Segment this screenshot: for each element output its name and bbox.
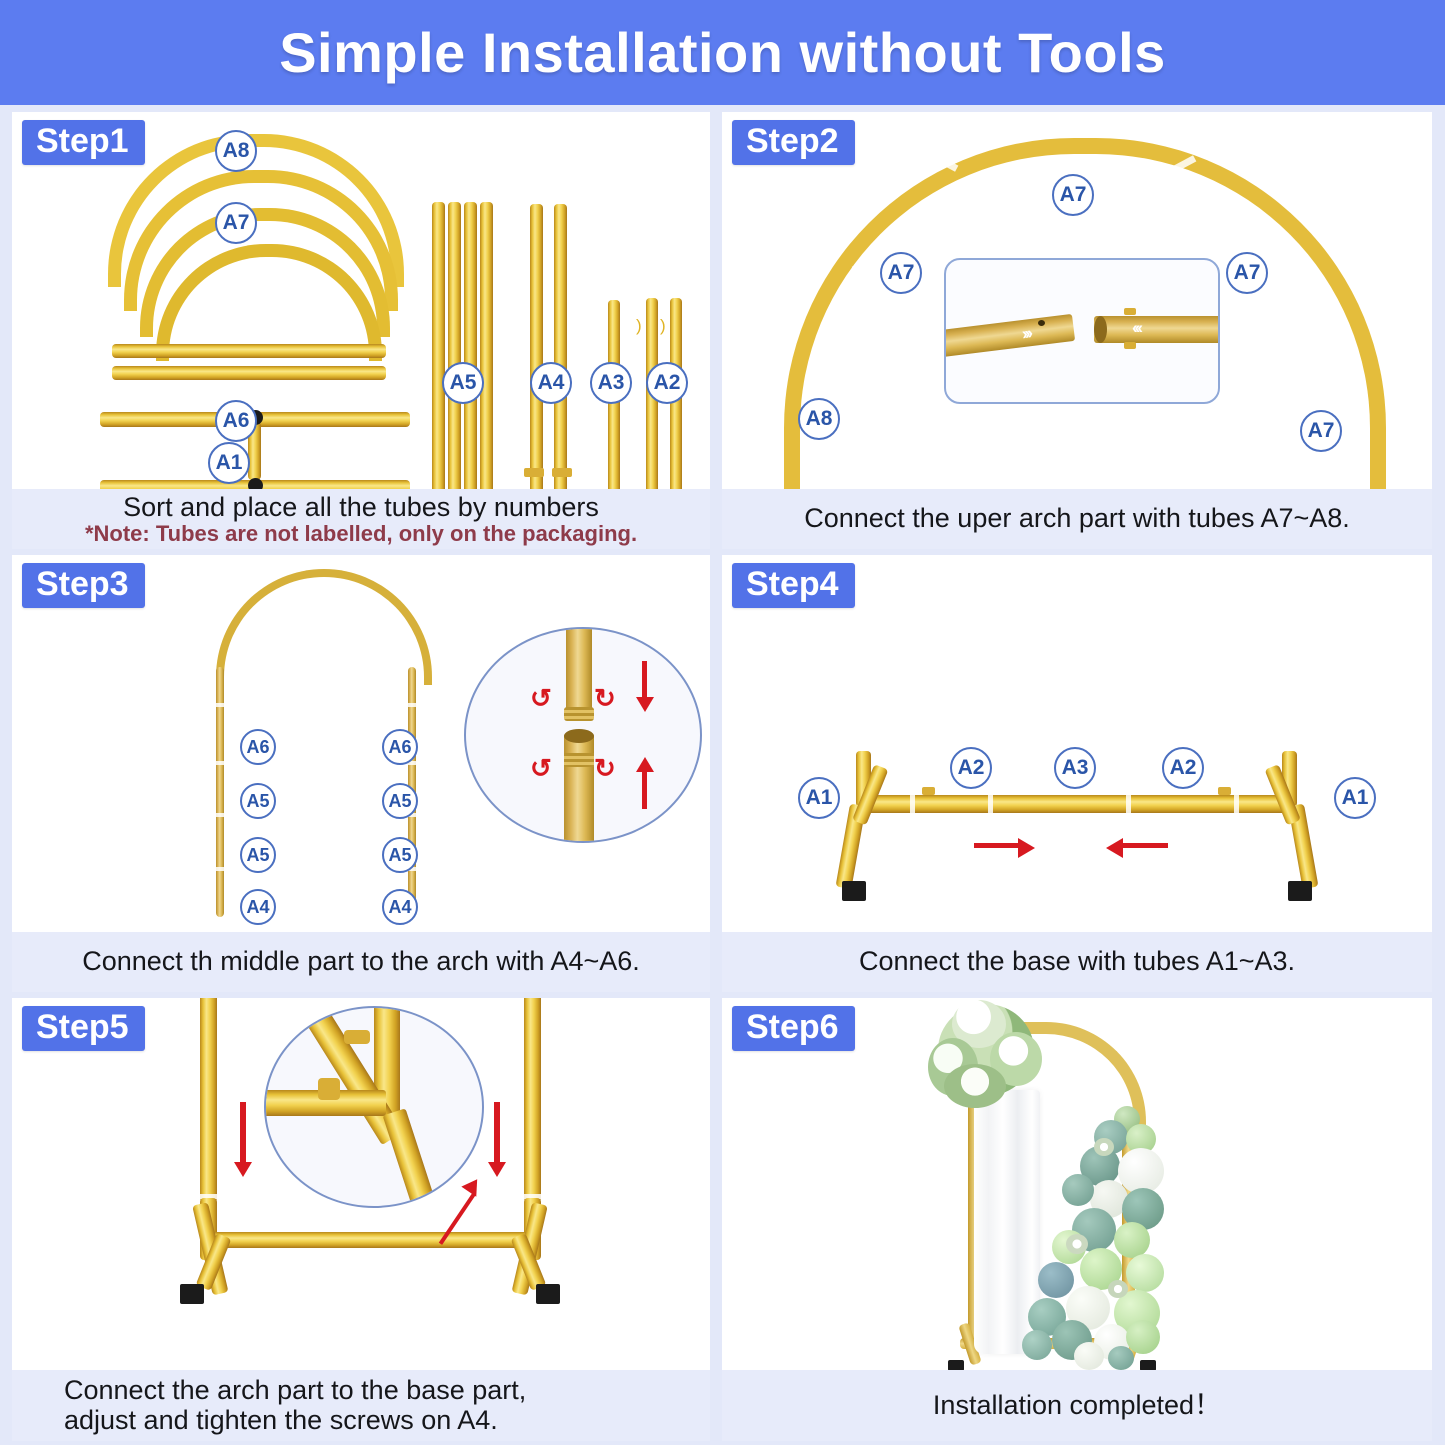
detail-tube-left-hole xyxy=(1038,320,1045,326)
seam-right-1 xyxy=(406,703,418,707)
final-left-foot-cap xyxy=(948,1360,964,1370)
step-panel-3: ↺ ↻ ↺ ↻ A6 A6 A5 A5 A5 A5 A4 A4 xyxy=(12,555,710,992)
balloon-7 xyxy=(1062,1174,1094,1206)
step-panel-1: ) ) A8 A7 A6 A5 A4 A3 A2 A1 Step1 Sort a… xyxy=(12,112,710,549)
balloon-20 xyxy=(1126,1320,1160,1354)
step-panel-4: A1 A2 A3 A2 A1 Step4 Connect the base wi… xyxy=(722,555,1432,992)
twist-threads-upper xyxy=(564,707,594,721)
a4-screw-left xyxy=(524,468,544,477)
tag-a1-right: A1 xyxy=(1334,777,1376,819)
rail-screw-left xyxy=(922,787,935,795)
final-right-foot-cap xyxy=(1140,1360,1156,1370)
step5-caption-line2: adjust and tighten the screws on A4. xyxy=(64,1406,498,1435)
straight-tube-a4-2 xyxy=(554,204,567,489)
tag-a8: A8 xyxy=(215,130,257,172)
balloon-22 xyxy=(1074,1342,1104,1370)
balloon-14 xyxy=(1038,1262,1074,1298)
straight-tube-a6-bottom xyxy=(112,366,386,380)
balloon-sprig-3 xyxy=(1108,1280,1128,1298)
tag-a6-left: A6 xyxy=(240,729,276,765)
tag-a1: A1 xyxy=(208,442,250,484)
tag-a7-right-leg: A7 xyxy=(1300,410,1342,452)
step3-caption-block: Connect th middle part to the arch with … xyxy=(12,932,710,992)
detail-chevrons-right-icon: ‹‹‹ xyxy=(1132,318,1140,338)
straight-tube-a5-4 xyxy=(480,202,493,489)
step-badge-5: Step5 xyxy=(22,1006,145,1051)
straight-tube-a6-top xyxy=(112,344,386,358)
joint-lower-tube xyxy=(383,1108,439,1208)
tag-a6: A6 xyxy=(215,400,257,442)
tag-a1-left: A1 xyxy=(798,777,840,819)
step5-left-down-arrow-head-icon xyxy=(234,1162,252,1177)
tag-a7-top: A7 xyxy=(1052,174,1094,216)
straight-tube-a5-3 xyxy=(464,202,477,489)
step2-connection-detail-inset: ››› ‹‹‹ xyxy=(944,258,1220,404)
tag-a2-right: A2 xyxy=(1162,747,1204,789)
step1-illustration: ) ) A8 A7 A6 A5 A4 A3 A2 A1 xyxy=(12,112,710,489)
twist-threads-lower xyxy=(564,753,594,767)
step-badge-4: Step4 xyxy=(732,563,855,608)
page-title: Simple Installation without Tools xyxy=(279,20,1166,85)
tag-a4-left: A4 xyxy=(240,889,276,925)
base-cap-bottom xyxy=(248,478,263,489)
balloon-23 xyxy=(1108,1346,1134,1370)
step4-caption: Connect the base with tubes A1~A3. xyxy=(859,947,1295,976)
rail-seam-4 xyxy=(1234,794,1239,814)
step5-base-rail xyxy=(210,1232,532,1248)
balloon-sprig-2 xyxy=(1066,1234,1088,1254)
step3-twist-detail-inset: ↺ ↻ ↺ ↻ xyxy=(464,627,702,843)
step5-right-foot-cap xyxy=(536,1284,560,1304)
tag-a2-left: A2 xyxy=(950,747,992,789)
push-right-arrow-shaft xyxy=(974,843,1020,848)
page-header: Simple Installation without Tools xyxy=(0,0,1445,105)
tag-a5: A5 xyxy=(442,362,484,404)
tag-a5-left-1: A5 xyxy=(240,783,276,819)
tag-a2: A2 xyxy=(646,362,688,404)
twist-tube-lower xyxy=(564,733,594,843)
step-badge-6: Step6 xyxy=(732,1006,855,1051)
tag-a6-right: A6 xyxy=(382,729,418,765)
step-badge-1: Step1 xyxy=(22,120,145,165)
installation-instruction-sheet: Simple Installation without Tools xyxy=(0,0,1445,1445)
step-badge-2: Step2 xyxy=(732,120,855,165)
down-arrow-head-icon xyxy=(636,697,654,712)
push-right-arrow-head-icon xyxy=(1018,838,1035,858)
step5-left-down-arrow-shaft xyxy=(240,1102,246,1164)
right-foot-cap xyxy=(1288,881,1312,901)
rotate-arrow-lower-left-icon: ↺ xyxy=(530,753,552,784)
step4-illustration: A1 A2 A3 A2 A1 xyxy=(722,555,1432,932)
joint-screw-lower xyxy=(318,1078,340,1100)
a2-notch-left-icon: ) xyxy=(636,316,642,336)
rotate-arrow-upper-left-icon: ↺ xyxy=(530,683,552,714)
push-left-arrow-head-icon xyxy=(1106,838,1123,858)
detail-tube-right xyxy=(1094,316,1220,343)
twist-tube-lower-opening xyxy=(564,729,594,743)
balloon-10 xyxy=(1114,1222,1150,1258)
seam-left-4 xyxy=(214,867,226,871)
push-left-arrow-shaft xyxy=(1122,843,1168,848)
step5-right-upright xyxy=(524,998,541,1202)
straight-tube-a5-2 xyxy=(448,202,461,489)
floral-bottom-fill xyxy=(944,1064,1006,1108)
step5-joint-detail-inset xyxy=(264,1006,484,1208)
step6-caption-block: Installation completed！ xyxy=(722,1370,1432,1441)
balloon-sprig-1 xyxy=(1094,1138,1114,1156)
step5-caption-line1: Connect the arch part to the base part, xyxy=(64,1376,526,1405)
step1-note: *Note: Tubes are not labelled, only on t… xyxy=(85,522,637,546)
up-arrow-shaft xyxy=(642,771,647,809)
tag-a7: A7 xyxy=(215,202,257,244)
rail-seam-1 xyxy=(910,794,915,814)
step1-caption-block: Sort and place all the tubes by numbers … xyxy=(12,489,710,549)
detail-screw-bottom xyxy=(1124,342,1136,349)
tag-a4-right: A4 xyxy=(382,889,418,925)
step-panel-6: Step6 Installation completed！ xyxy=(722,998,1432,1441)
tag-a4: A4 xyxy=(530,362,572,404)
step6-caption: Installation completed！ xyxy=(933,1391,1221,1420)
step5-right-down-arrow-head-icon xyxy=(488,1162,506,1177)
a2-notch-right-icon: ) xyxy=(660,316,666,336)
joint-screw-upper xyxy=(344,1030,370,1044)
straight-tube-a5-1 xyxy=(432,202,445,489)
step-badge-3: Step3 xyxy=(22,563,145,608)
seam-left-2 xyxy=(214,761,226,765)
up-arrow-head-icon xyxy=(636,757,654,772)
balloon-13 xyxy=(1126,1254,1164,1292)
tag-a5-left-2: A5 xyxy=(240,837,276,873)
seam-left-1 xyxy=(214,703,226,707)
step6-illustration xyxy=(722,998,1432,1370)
rail-seam-2 xyxy=(988,794,993,814)
rail-screw-right xyxy=(1218,787,1231,795)
tag-a3: A3 xyxy=(590,362,632,404)
steps-grid: ) ) A8 A7 A6 A5 A4 A3 A2 A1 Step1 Sort a… xyxy=(0,108,1445,1445)
step-panel-2: ››› ‹‹‹ A7 A7 A7 A8 A7 Step2 Connect the… xyxy=(722,112,1432,549)
seam-left-3 xyxy=(214,813,226,817)
step2-illustration: ››› ‹‹‹ A7 A7 A7 A8 A7 xyxy=(722,112,1432,489)
step3-caption: Connect th middle part to the arch with … xyxy=(82,947,640,976)
detail-tube-left xyxy=(944,314,1075,357)
down-arrow-shaft xyxy=(642,661,647,699)
detail-tube-right-opening xyxy=(1094,316,1107,343)
step2-caption: Connect the uper arch part with tubes A7… xyxy=(804,504,1350,533)
step1-caption: Sort and place all the tubes by numbers xyxy=(123,493,599,522)
step3-illustration: ↺ ↻ ↺ ↻ A6 A6 A5 A5 A5 A5 A4 A4 xyxy=(12,555,710,932)
tag-a7-left: A7 xyxy=(880,252,922,294)
tag-a7-right: A7 xyxy=(1226,252,1268,294)
tag-a5-right-1: A5 xyxy=(382,783,418,819)
rotate-arrow-upper-right-icon: ↻ xyxy=(594,683,616,714)
left-foot-cap xyxy=(842,881,866,901)
rail-seam-3 xyxy=(1126,794,1131,814)
step-panel-5: Step5 Connect the arch part to the base … xyxy=(12,998,710,1441)
balloon-21 xyxy=(1022,1330,1052,1360)
step5-left-upright xyxy=(200,998,217,1202)
tag-a3: A3 xyxy=(1054,747,1096,789)
tag-a8-left-leg: A8 xyxy=(798,398,840,440)
step5-left-foot-cap xyxy=(180,1284,204,1304)
step5-caption-block: Connect the arch part to the base part, … xyxy=(12,1370,710,1441)
tag-a5-right-2: A5 xyxy=(382,837,418,873)
step5-illustration xyxy=(12,998,710,1370)
step4-caption-block: Connect the base with tubes A1~A3. xyxy=(722,932,1432,992)
step2-caption-block: Connect the uper arch part with tubes A7… xyxy=(722,489,1432,549)
step5-pointer-arrow-head-icon xyxy=(461,1174,484,1197)
detail-screw-top xyxy=(1124,308,1136,315)
straight-tube-a4-1 xyxy=(530,204,543,489)
step3-arch-top xyxy=(216,569,432,685)
step5-right-down-arrow-shaft xyxy=(494,1102,500,1164)
base-rail xyxy=(862,795,1290,813)
rotate-arrow-lower-right-icon: ↻ xyxy=(594,753,616,784)
a4-screw-right xyxy=(552,468,572,477)
